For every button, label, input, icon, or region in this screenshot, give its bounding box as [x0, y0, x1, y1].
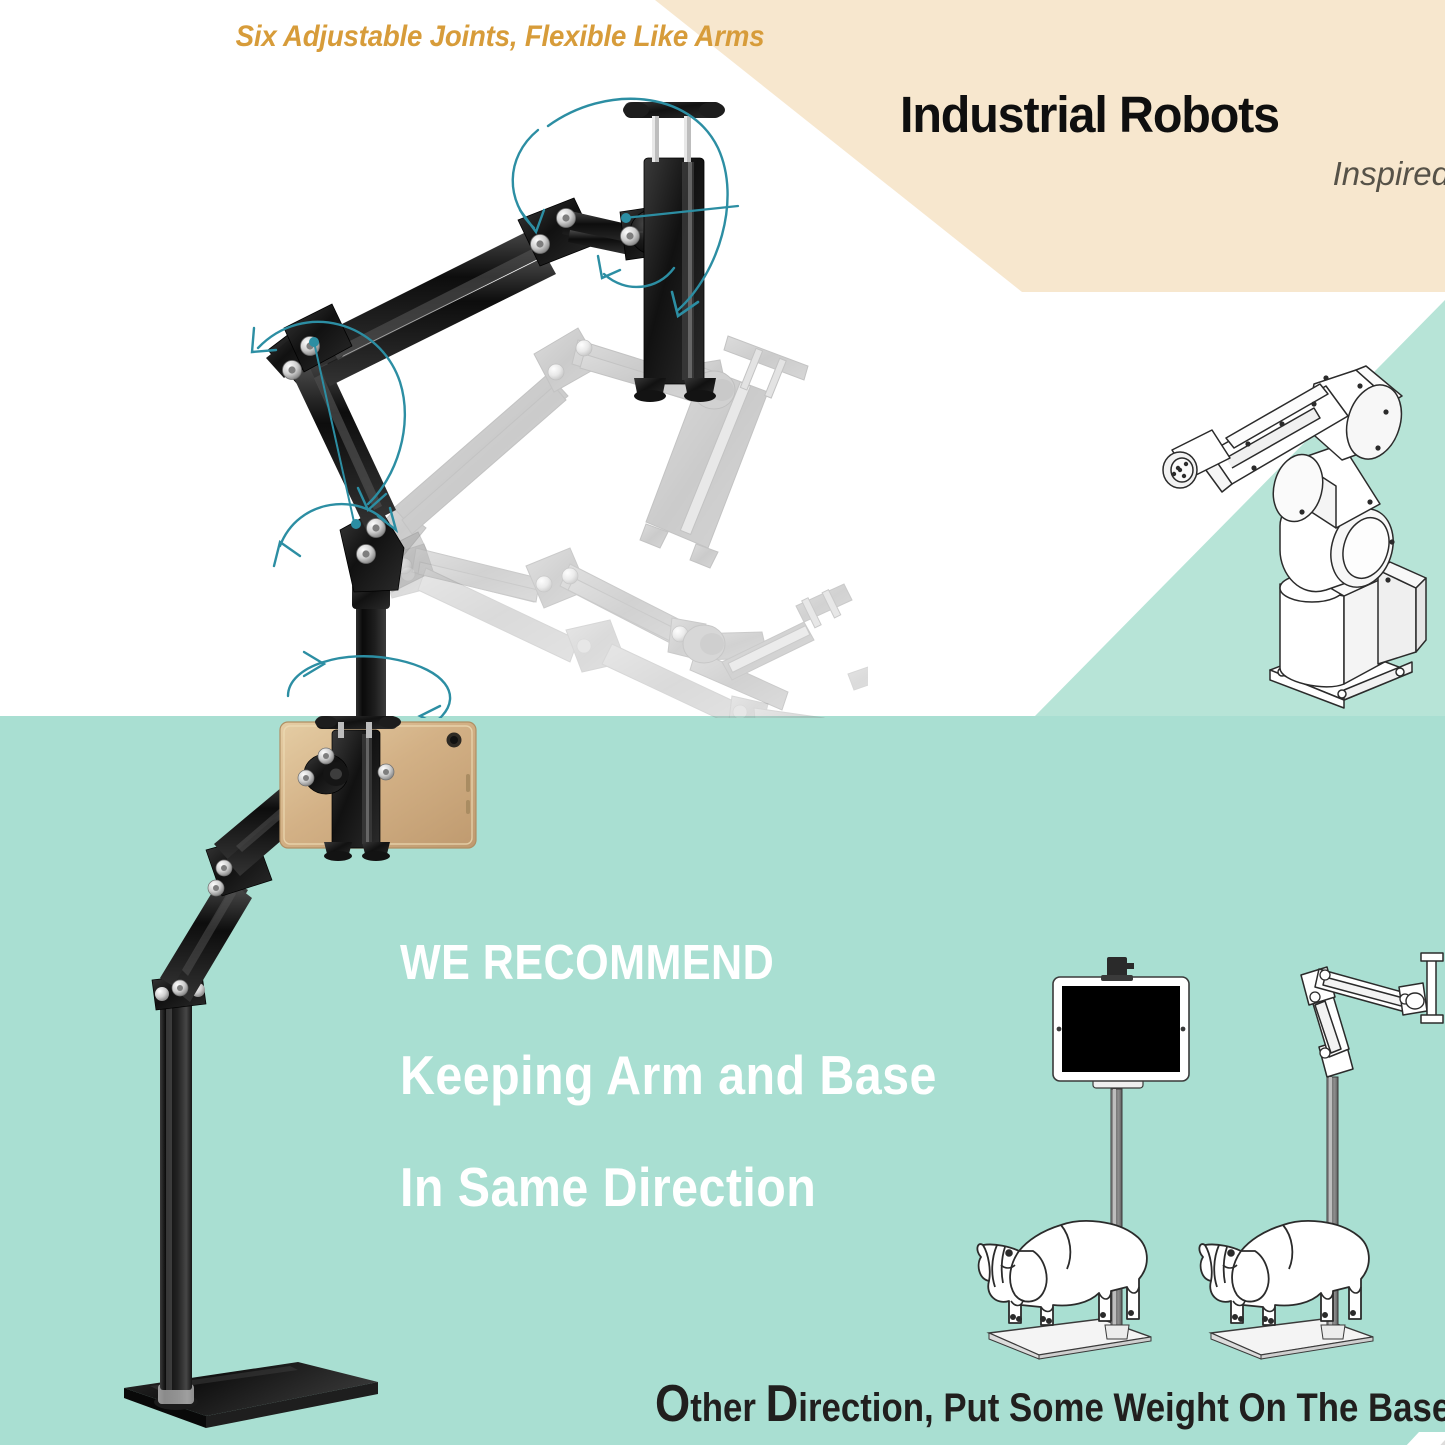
weight-on-base-illustration [975, 945, 1445, 1375]
weight-caption-initial-d: D [766, 1375, 799, 1433]
recommend-line-2: Keeping Arm and Base [400, 1043, 937, 1107]
infographic-canvas: Six Adjustable Joints, Flexible Like Arm… [0, 0, 1445, 1445]
ghost-arm-position-a [360, 328, 808, 572]
weight-caption: Other Direction, Put Some Weight On The … [655, 1374, 1445, 1434]
headline-industrial-robots: Industrial Robots [900, 85, 1432, 144]
headline-inspired: Inspired [1100, 155, 1445, 193]
weight-caption-after-o: ther [690, 1386, 765, 1430]
recommend-line-1: WE RECOMMEND [400, 935, 937, 991]
weight-caption-initial-o: O [655, 1375, 690, 1433]
recommendation-text-block: WE RECOMMEND Keeping Arm and Base In Sam… [400, 935, 1010, 1219]
headline-six-joints: Six Adjustable Joints, Flexible Like Arm… [40, 20, 960, 54]
weight-caption-after-d: irection, Put Some Weight On The Base [798, 1386, 1445, 1430]
elephant-right [1199, 1221, 1369, 1325]
articulated-arm-illustration [248, 78, 868, 718]
recommend-line-3: In Same Direction [400, 1155, 937, 1219]
industrial-robot-illustration [1130, 352, 1445, 717]
